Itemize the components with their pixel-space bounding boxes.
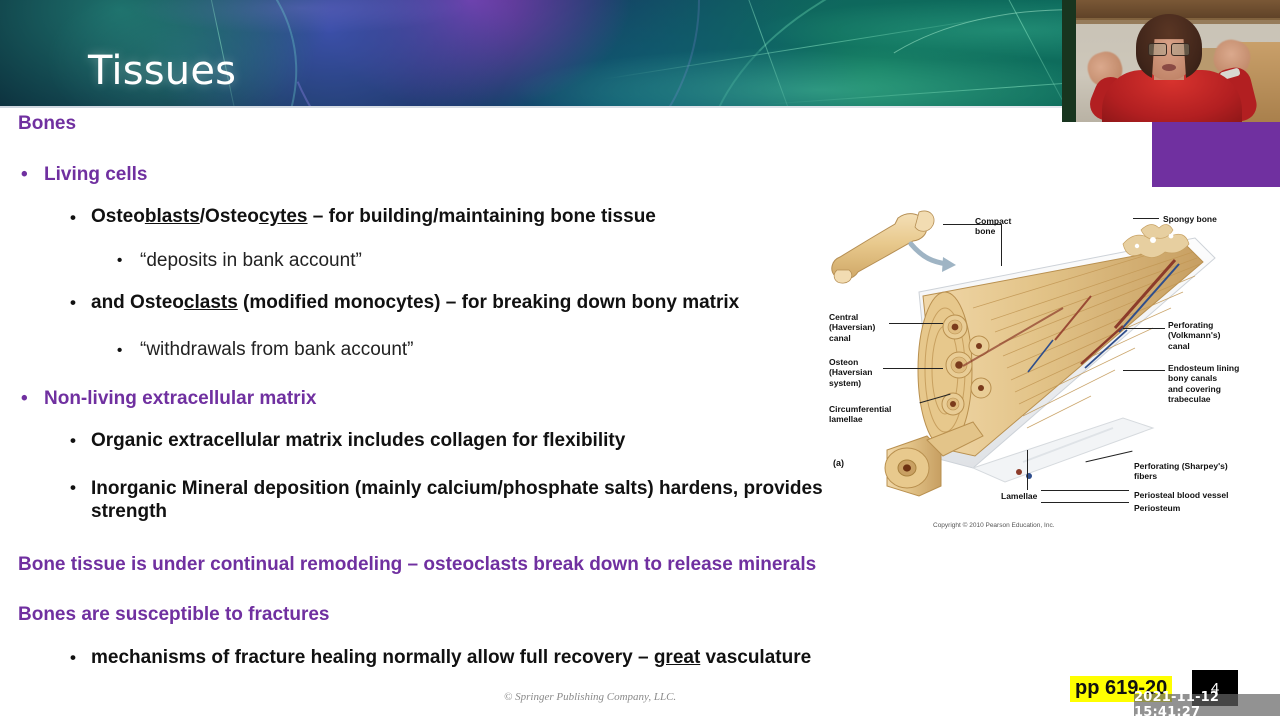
osteoclasts-suffix: (modified monocytes) – for breaking down… <box>238 292 739 313</box>
osteoblasts-suffix: – for building/maintaining bone tissue <box>308 206 656 227</box>
statement-bone-remodeling: Bone tissue is under continual remodelin… <box>18 554 816 576</box>
bullet-glyph: • <box>21 164 28 186</box>
bullet-fracture-healing: mechanisms of fracture healing normally … <box>91 647 811 669</box>
label-perforating-sharpeys-fibers: Perforating (Sharpey's) fibers <box>1134 461 1228 482</box>
zoom-arrow <box>911 244 947 264</box>
section-heading-bones: Bones <box>18 113 76 135</box>
label-lamellae: Lamellae <box>1001 491 1037 501</box>
purple-accent-box <box>1152 122 1280 187</box>
leader-line-endosteum <box>1123 370 1165 371</box>
statement-bone-fractures: Bones are susceptible to fractures <box>18 604 330 626</box>
compact-bone-shaft <box>885 224 1215 496</box>
bullet-glyph: • <box>21 388 28 410</box>
bone-anatomy-diagram: Compact bone Spongy bone Central (Havers… <box>823 200 1280 540</box>
leader-line-periosteal-vessel <box>1041 490 1129 491</box>
osteoclasts-prefix: and Osteo <box>91 292 184 313</box>
slide-title: Tissues <box>88 48 236 94</box>
bullet-living-cells: Living cells <box>44 164 147 186</box>
bullet-glyph: • <box>70 648 76 668</box>
figure-part-label: (a) <box>833 458 844 468</box>
bullet-withdrawals-quote: “withdrawals from bank account” <box>140 339 414 361</box>
diagram-copyright-notice: Copyright © 2010 Pearson Education, Inc. <box>933 522 1055 529</box>
presentation-slide: Tissues Bones • Living cells • Osteoblas… <box>0 0 1280 720</box>
springer-copyright: © Springer Publishing Company, LLC. <box>504 691 676 703</box>
whole-femur-inset <box>832 211 934 283</box>
recording-timestamp: 2021-11-12 15:41:27 <box>1134 694 1280 716</box>
mechanisms-suffix: vasculature <box>700 647 811 668</box>
presenter-glasses <box>1148 43 1190 54</box>
bullet-organic-matrix: Organic extracellular matrix includes co… <box>91 430 625 452</box>
leader-line-lamellae-v <box>1027 450 1028 490</box>
label-perforating-volkmanns-canal: Perforating (Volkmann's) canal <box>1168 320 1220 351</box>
bullet-glyph: • <box>117 252 122 269</box>
label-periosteal-blood-vessel: Periosteal blood vessel <box>1134 490 1228 500</box>
label-endosteum: Endosteum lining bony canals and coverin… <box>1168 363 1239 404</box>
mechanisms-prefix: mechanisms of fracture healing normally … <box>91 647 654 668</box>
great-underlined: great <box>654 647 700 668</box>
leader-line-perforating-canal <box>1123 328 1165 329</box>
label-periosteum: Periosteum <box>1134 503 1180 513</box>
osteocytes-underlined: cytes <box>259 206 308 227</box>
leader-line-periosteum <box>1041 502 1129 503</box>
osteoblasts-prefix: Osteo <box>91 206 145 227</box>
osteocytes-middle: /Osteo <box>200 206 259 227</box>
webcam-left-edge <box>1062 0 1076 122</box>
bullet-glyph: • <box>70 293 76 313</box>
label-central-haversian-canal: Central (Haversian) canal <box>829 312 875 343</box>
osteoclasts-underlined: clasts <box>184 292 238 313</box>
leader-line-central-canal <box>889 323 943 324</box>
bullet-inorganic-mineral: Inorganic Mineral deposition (mainly cal… <box>91 477 851 523</box>
presenter-mouth <box>1162 64 1176 71</box>
label-spongy-bone: Spongy bone <box>1163 214 1217 224</box>
bullet-glyph: • <box>70 431 76 451</box>
bullet-glyph: • <box>70 478 76 498</box>
leader-line-osteon <box>883 368 943 369</box>
label-osteon: Osteon (Haversian system) <box>829 357 872 388</box>
presenter-webcam-feed[interactable] <box>1062 0 1280 122</box>
bullet-deposits-quote: “deposits in bank account” <box>140 250 362 272</box>
label-compact-bone: Compact bone <box>975 216 1011 237</box>
bullet-osteoclasts: and Osteoclasts (modified monocytes) – f… <box>91 292 739 314</box>
bullet-non-living-matrix: Non-living extracellular matrix <box>44 388 316 410</box>
bullet-glyph: • <box>117 342 122 359</box>
bullet-osteoblasts-osteocytes: Osteoblasts/Osteocytes – for building/ma… <box>91 206 656 228</box>
leader-line-spongy-bone <box>1133 218 1159 219</box>
osteoblasts-underlined: blasts <box>145 206 200 227</box>
bullet-glyph: • <box>70 208 76 228</box>
label-circumferential-lamellae: Circumferential lamellae <box>829 404 891 425</box>
